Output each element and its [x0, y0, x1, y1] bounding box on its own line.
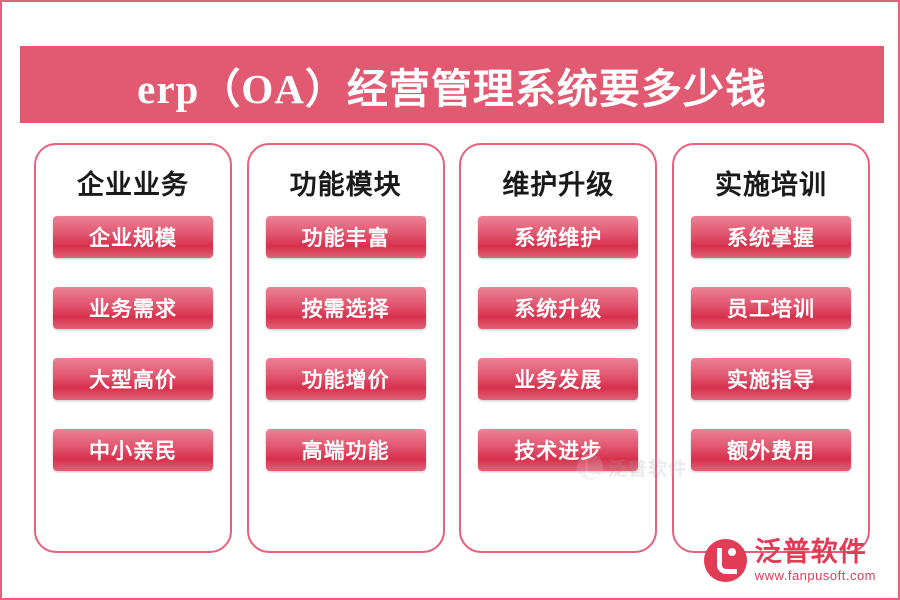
title-banner: erp（OA）经营管理系统要多少钱 [20, 46, 884, 123]
brand-url: www.fanpusoft.com [755, 569, 876, 582]
category-item[interactable]: 大型高价 [53, 358, 213, 400]
category-column-2: 功能模块 功能丰富 按需选择 功能增价 高端功能 [247, 143, 445, 553]
category-item[interactable]: 高端功能 [266, 429, 426, 471]
category-item[interactable]: 技术进步 [478, 429, 638, 471]
page-title: erp（OA）经营管理系统要多少钱 [137, 55, 767, 115]
category-item[interactable]: 功能增价 [266, 358, 426, 400]
category-column-4: 实施培训 系统掌握 员工培训 实施指导 额外费用 [672, 143, 870, 553]
column-title: 实施培训 [715, 163, 827, 202]
category-item[interactable]: 功能丰富 [266, 216, 426, 258]
category-item[interactable]: 业务需求 [53, 287, 213, 329]
category-item[interactable]: 系统掌握 [691, 216, 851, 258]
column-title: 功能模块 [290, 163, 402, 202]
category-column-3: 维护升级 系统维护 系统升级 业务发展 技术进步 [459, 143, 657, 553]
column-title: 企业业务 [77, 163, 189, 202]
category-columns: 企业业务 企业规模 业务需求 大型高价 中小亲民 功能模块 功能丰富 按需选择 … [34, 143, 870, 553]
diagram-canvas: erp（OA）经营管理系统要多少钱 企业业务 企业规模 业务需求 大型高价 中小… [0, 0, 900, 600]
fanpu-logo-icon [704, 539, 747, 582]
brand-logo: 泛普软件 www.fanpusoft.com [704, 539, 876, 582]
column-title: 维护升级 [502, 163, 614, 202]
category-item[interactable]: 额外费用 [691, 429, 851, 471]
category-item[interactable]: 企业规模 [53, 216, 213, 258]
brand-name: 泛普软件 [755, 539, 876, 566]
category-item[interactable]: 实施指导 [691, 358, 851, 400]
category-item[interactable]: 业务发展 [478, 358, 638, 400]
brand-logo-text: 泛普软件 www.fanpusoft.com [755, 539, 876, 582]
category-column-1: 企业业务 企业规模 业务需求 大型高价 中小亲民 [34, 143, 232, 553]
category-item[interactable]: 中小亲民 [53, 429, 213, 471]
category-item[interactable]: 按需选择 [266, 287, 426, 329]
category-item[interactable]: 员工培训 [691, 287, 851, 329]
category-item[interactable]: 系统升级 [478, 287, 638, 329]
category-item[interactable]: 系统维护 [478, 216, 638, 258]
